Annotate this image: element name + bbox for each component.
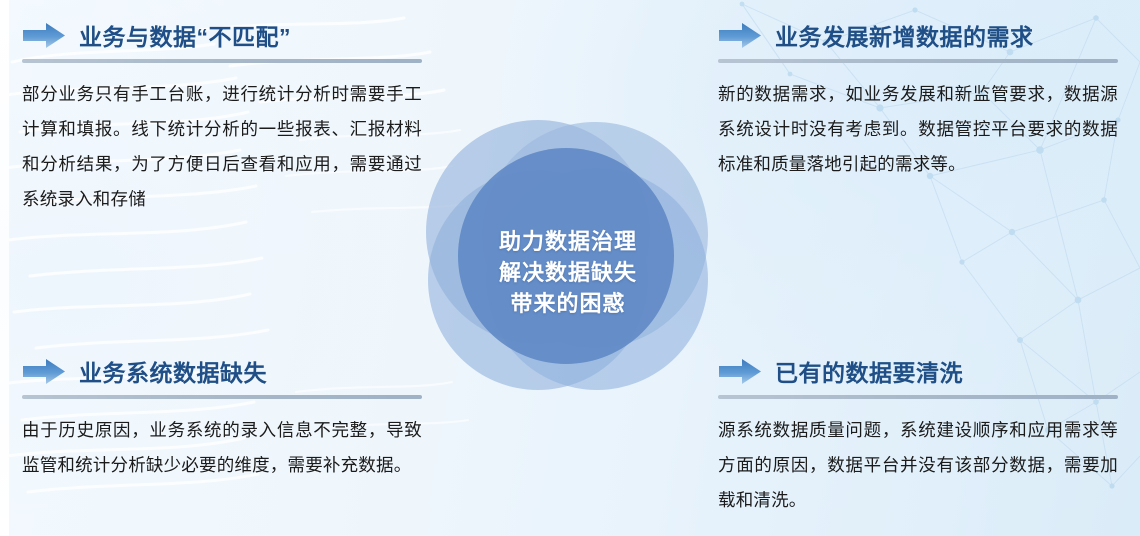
- card-header: 业务与数据“不匹配”: [22, 16, 422, 54]
- card-divider: [718, 59, 1118, 63]
- right-arrow-icon: [718, 22, 762, 49]
- right-arrow-icon: [22, 358, 66, 385]
- card-missing-system-data: 业务系统数据缺失 由于历史原因，业务系统的录入信息不完整，导致监管和统计分析缺少…: [22, 352, 422, 483]
- circle-upper-right: [482, 122, 708, 348]
- card-divider: [22, 395, 422, 399]
- card-title: 业务与数据“不匹配”: [79, 18, 291, 52]
- card-header: 已有的数据要清洗: [718, 352, 1118, 390]
- center-label-line-1: 助力数据治理: [424, 226, 712, 257]
- left-edge-strip: [0, 0, 9, 536]
- center-label-line-2: 解决数据缺失: [424, 257, 712, 288]
- slide-canvas: 助力数据治理 解决数据缺失 带来的困惑 业务与数据“不匹配” 部分业务只有手工台…: [0, 0, 1140, 536]
- card-header: 业务系统数据缺失: [22, 352, 422, 390]
- card-business-data-mismatch: 业务与数据“不匹配” 部分业务只有手工台账，进行统计分析时需要手工计算和填报。线…: [22, 16, 422, 217]
- right-arrow-icon: [22, 22, 66, 49]
- card-body-text: 源系统数据质量问题，系统建设顺序和应用需求等方面的原因，数据平台并没有该部分数据…: [718, 413, 1118, 518]
- center-label-line-3: 带来的困惑: [424, 288, 712, 319]
- card-title: 已有的数据要清洗: [775, 354, 963, 388]
- center-circle-cluster: [424, 118, 712, 390]
- card-clean-existing-data: 已有的数据要清洗 源系统数据质量问题，系统建设顺序和应用需求等方面的原因，数据平…: [718, 352, 1118, 518]
- circle-lower-left: [428, 170, 648, 390]
- card-new-data-demand: 业务发展新增数据的需求 新的数据需求，如业务发展和新监管要求，数据源系统设计时没…: [718, 16, 1118, 182]
- card-body-text: 新的数据需求，如业务发展和新监管要求，数据源系统设计时没有考虑到。数据管控平台要…: [718, 77, 1118, 182]
- card-divider: [22, 59, 422, 63]
- card-header: 业务发展新增数据的需求: [718, 16, 1118, 54]
- circle-core: [458, 148, 674, 364]
- card-divider: [718, 395, 1118, 399]
- circle-upper-left: [426, 120, 650, 344]
- circle-lower-right: [486, 168, 708, 390]
- right-arrow-icon: [718, 358, 762, 385]
- card-title: 业务发展新增数据的需求: [775, 18, 1034, 52]
- card-title: 业务系统数据缺失: [79, 354, 267, 388]
- card-body-text: 由于历史原因，业务系统的录入信息不完整，导致监管和统计分析缺少必要的维度，需要补…: [22, 413, 422, 483]
- center-label: 助力数据治理 解决数据缺失 带来的困惑: [424, 226, 712, 319]
- card-body-text: 部分业务只有手工台账，进行统计分析时需要手工计算和填报。线下统计分析的一些报表、…: [22, 77, 422, 217]
